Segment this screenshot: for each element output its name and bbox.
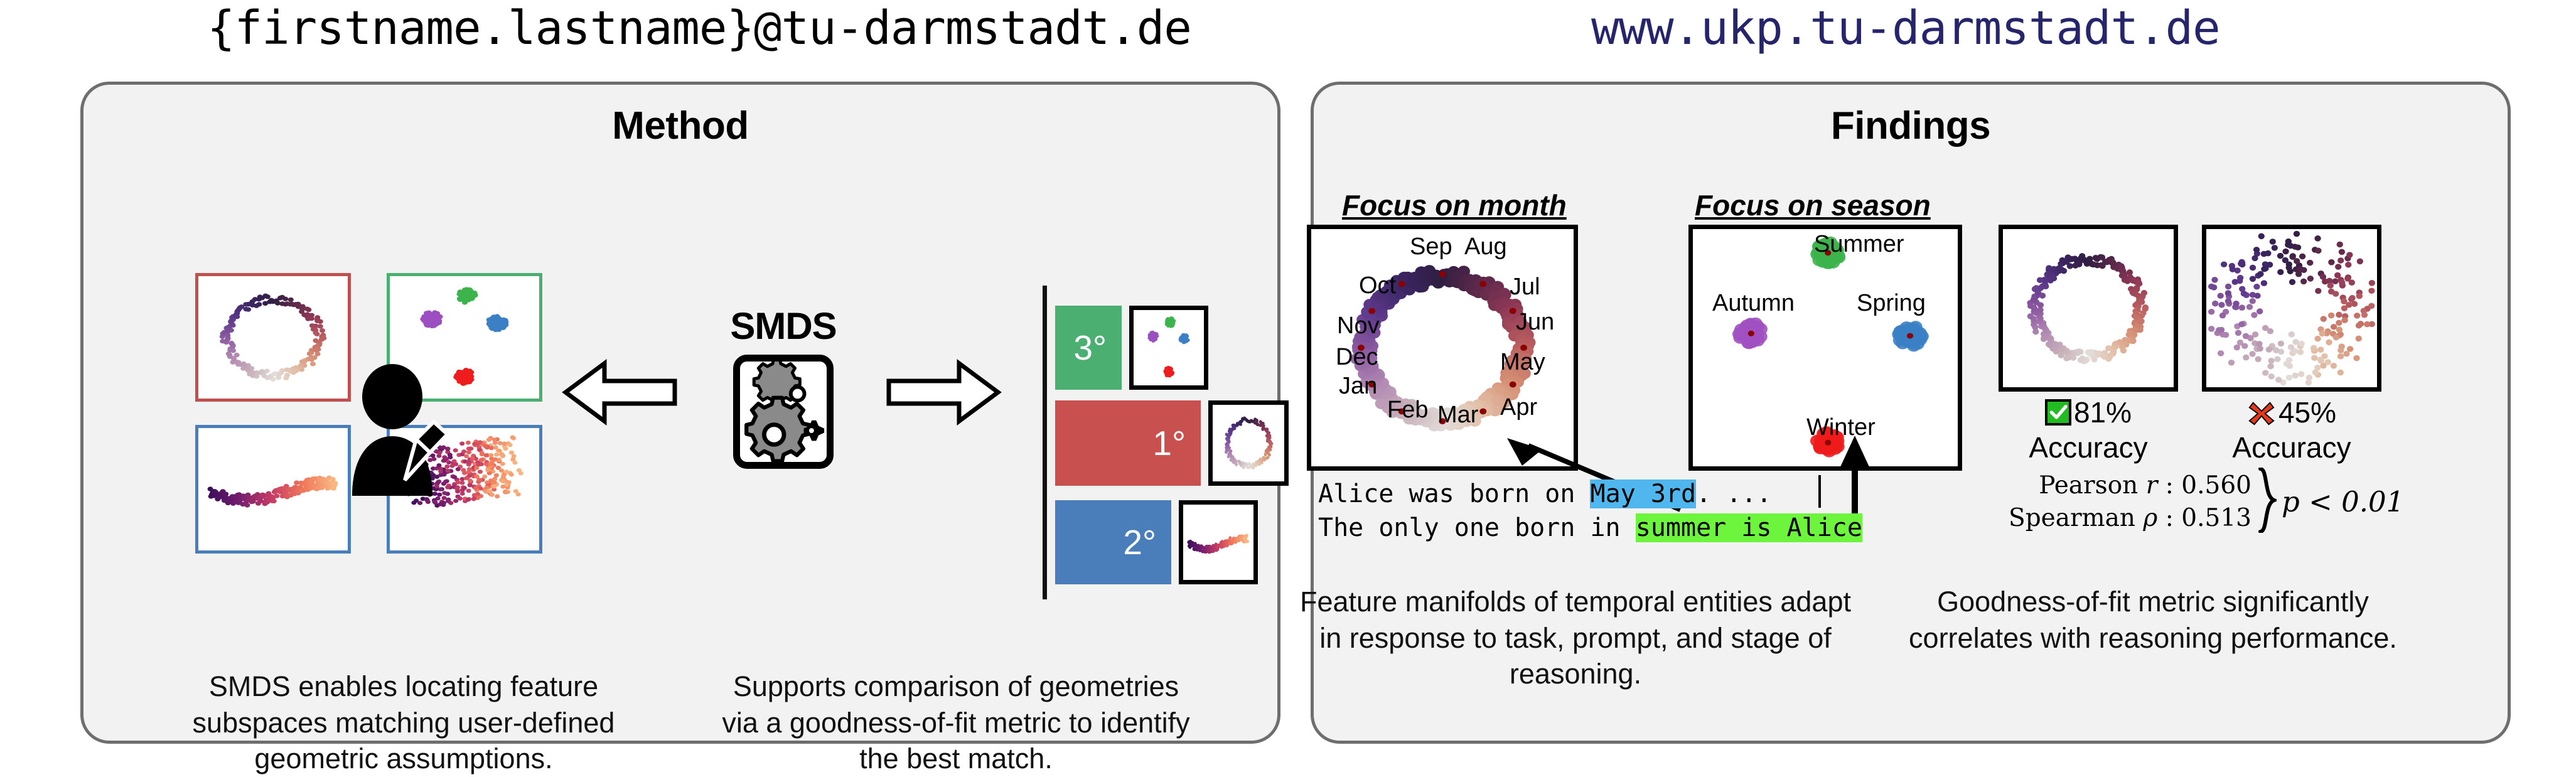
spearman-value: 0.513 [2181, 504, 2251, 532]
accuracy-plot-ring [1999, 225, 2178, 392]
prompt-line-1-pre: Alice was born on [1318, 480, 1590, 508]
accuracy-label-2: Accuracy [2189, 431, 2394, 464]
spearman-label: Spearman [2009, 504, 2135, 532]
prompt-highlight-green: summer is Alice [1636, 513, 1862, 542]
curly-brace-icon [2258, 468, 2277, 536]
user-with-pen-icon [340, 364, 465, 496]
prompt-text-block: Alice was born on May 3rd. ... The only … [1318, 477, 1862, 545]
method-panel: Method SMDS [80, 82, 1280, 744]
rank-bar-2: 2° [1055, 500, 1171, 584]
prompt-line-1-post: . ... [1696, 480, 1771, 508]
accuracy-block-incorrect: 45% Accuracy [2189, 395, 2394, 464]
arrow-right-icon [884, 355, 1003, 430]
month-label-aug: Aug [1464, 233, 1507, 260]
spearman-row: Spearman ρ : 0.513 [2009, 502, 2251, 534]
ring-scatter-svg [198, 276, 348, 399]
month-label-nov: Nov [1337, 313, 1380, 340]
ranking-row-1: 1° [1055, 400, 1289, 486]
correlation-values: Pearson r : 0.560 Spearman ρ : 0.513 [2009, 469, 2251, 534]
accuracy-block-correct: 81% Accuracy [1986, 395, 2191, 464]
ranking-row-2: 2° [1055, 500, 1258, 584]
rank-bar-3: 3° [1055, 306, 1122, 390]
month-label-mar: Mar [1437, 402, 1478, 429]
rank-bar-label-3: 3° [1073, 328, 1107, 368]
p-value: p < 0.01 [2282, 485, 2404, 518]
rank-thumbnail-line [1179, 500, 1258, 584]
findings-caption-right: Goodness-of-fit metric significantly cor… [1902, 584, 2404, 656]
prompt-highlight-blue: May 3rd [1590, 480, 1696, 508]
method-example-plot-line [195, 425, 351, 554]
method-example-plot-ring [195, 273, 351, 402]
rank-bar-label-2: 2° [1123, 522, 1156, 562]
arrow-left-icon [561, 355, 680, 430]
rank-bar-1: 1° [1055, 400, 1201, 486]
month-label-jul: Jul [1510, 274, 1540, 301]
month-label-may: May [1500, 349, 1545, 376]
season-label-spring: Spring [1857, 290, 1926, 317]
month-label-jan: Jan [1339, 373, 1377, 400]
prompt-line-2: The only one born in summer is Alice [1318, 511, 1862, 545]
poster-header: {firstname.lastname}@tu-darmstadt.de www… [0, 0, 2576, 88]
findings-panel-title: Findings [1314, 104, 2508, 148]
month-label-apr: Apr [1500, 394, 1537, 421]
pearson-symbol: r [2146, 471, 2158, 500]
pearson-label: Pearson [2039, 471, 2138, 500]
findings-caption-left: Feature manifolds of temporal entities a… [1299, 584, 1852, 692]
cross-icon [2247, 398, 2276, 427]
accuracy-value-row-1: 81% [1986, 395, 2191, 429]
season-label-summer: Summer [1814, 231, 1904, 258]
method-panel-title: Method [83, 104, 1277, 148]
prompt-line-1: Alice was born on May 3rd. ... [1318, 477, 1862, 511]
correlation-stats-block: Pearson r : 0.560 Spearman ρ : 0.513 p <… [2009, 468, 2404, 536]
website-url[interactable]: www.ukp.tu-darmstadt.de [1591, 1, 2220, 55]
contact-email: {firstname.lastname}@tu-darmstadt.de [207, 1, 1191, 55]
accuracy-label-1: Accuracy [1986, 431, 2191, 464]
method-caption-right: Supports comparison of geometries via a … [711, 668, 1201, 777]
focus-on-season-heading: Focus on season [1695, 188, 1931, 222]
check-icon [2045, 399, 2071, 426]
method-caption-left: SMDS enables locating feature subspaces … [178, 668, 630, 777]
pearson-row: Pearson r : 0.560 [2009, 469, 2251, 501]
accuracy-value-1: 81% [2074, 395, 2132, 429]
rank-thumbnail-ring [1208, 400, 1289, 486]
prompt-line-2-pre: The only one born in [1318, 513, 1636, 542]
season-label-autumn: Autumn [1712, 290, 1795, 317]
month-label-sep: Sep [1410, 233, 1452, 260]
line-scatter-svg [198, 428, 348, 550]
month-label-dec: Dec [1336, 344, 1378, 371]
rank-thumbnail-clusters [1129, 306, 1208, 390]
gears-icon [733, 355, 834, 469]
smds-label: SMDS [695, 304, 871, 348]
focus-on-month-heading: Focus on month [1342, 188, 1567, 222]
rank-bar-label-1: 1° [1152, 423, 1186, 463]
spearman-symbol: ρ [2143, 504, 2157, 532]
accuracy-value-row-2: 45% [2189, 395, 2394, 429]
pearson-value: 0.560 [2181, 471, 2251, 500]
month-label-feb: Feb [1387, 397, 1428, 424]
ranking-row-3: 3° [1055, 306, 1208, 390]
accuracy-value-2: 45% [2278, 395, 2336, 429]
ranking-axis [1043, 286, 1047, 599]
month-label-jun: Jun [1516, 309, 1554, 336]
month-label-oct: Oct [1359, 272, 1396, 299]
accuracy-plot-cloud [2202, 225, 2381, 392]
prompt-divider [1818, 475, 1821, 508]
